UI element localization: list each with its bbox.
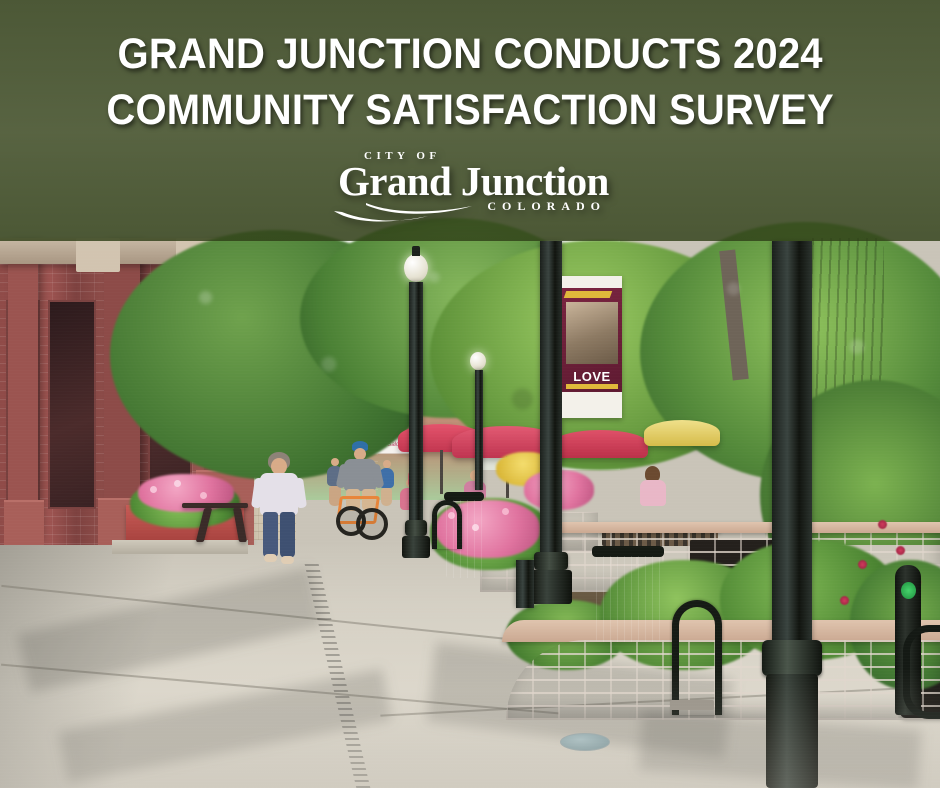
lamp-base (402, 536, 430, 558)
trash-receptacle (596, 556, 660, 642)
cornice-block (76, 238, 120, 272)
bike-rack-foot (670, 700, 714, 710)
city-logo: CITY OF Grand Junction COLORADO (332, 150, 608, 224)
rose-bloom (896, 546, 905, 555)
pole-banner: LOVE (562, 276, 622, 418)
lamp-collar (405, 520, 427, 536)
headline-line-2: COMMUNITY SATISFACTION SURVEY (106, 82, 834, 138)
lamp-post (475, 370, 483, 490)
rose-bloom (878, 520, 887, 529)
rose-bloom (840, 596, 849, 605)
banner-accent-bar (564, 291, 613, 298)
lamp-collar-ornament (762, 640, 822, 676)
lamp-finial (412, 246, 420, 256)
lamp-post-foreground (772, 241, 812, 651)
lamp-collar (534, 552, 568, 570)
flower-petal (174, 480, 181, 487)
lamp-base-foreground (766, 674, 818, 788)
banner-word: LOVE (566, 366, 618, 386)
bollard (516, 560, 534, 608)
flower-petal (502, 508, 509, 515)
lamp-base (530, 570, 572, 604)
headline-line-1: GRAND JUNCTION CONDUCTS 2024 (117, 26, 822, 82)
bike-rack (672, 600, 722, 715)
flower-petal (150, 486, 157, 493)
lamp-globe (404, 254, 428, 282)
lamp-post (409, 282, 423, 550)
flower-petal (200, 492, 207, 499)
building-pilaster (8, 241, 38, 541)
logo-state-text: COLORADO (487, 199, 606, 214)
utility-cover (560, 733, 610, 751)
rose-bloom (858, 560, 867, 569)
bike-rack (432, 500, 462, 549)
bicycle-wheel (356, 508, 388, 540)
lamp-globe (470, 352, 486, 370)
bike-share-logo-icon (901, 582, 916, 599)
bike-share-arm (903, 625, 940, 719)
lamp-post (540, 241, 562, 581)
header-overlay: GRAND JUNCTION CONDUCTS 2024 COMMUNITY S… (0, 0, 940, 241)
banner-photo (566, 302, 618, 364)
river-swoosh-icon (332, 194, 482, 224)
brick-planter-wall (506, 640, 940, 720)
poster-image: Salon BROWN CYCLES (0, 0, 940, 788)
building-window (48, 300, 96, 509)
banner-accent-bar (566, 384, 618, 389)
patio-umbrella (552, 430, 648, 458)
patio-umbrella-yellow (644, 420, 720, 446)
banner-body: LOVE (562, 288, 622, 392)
umbrella-pole (440, 450, 443, 494)
planter-curb (112, 540, 248, 554)
